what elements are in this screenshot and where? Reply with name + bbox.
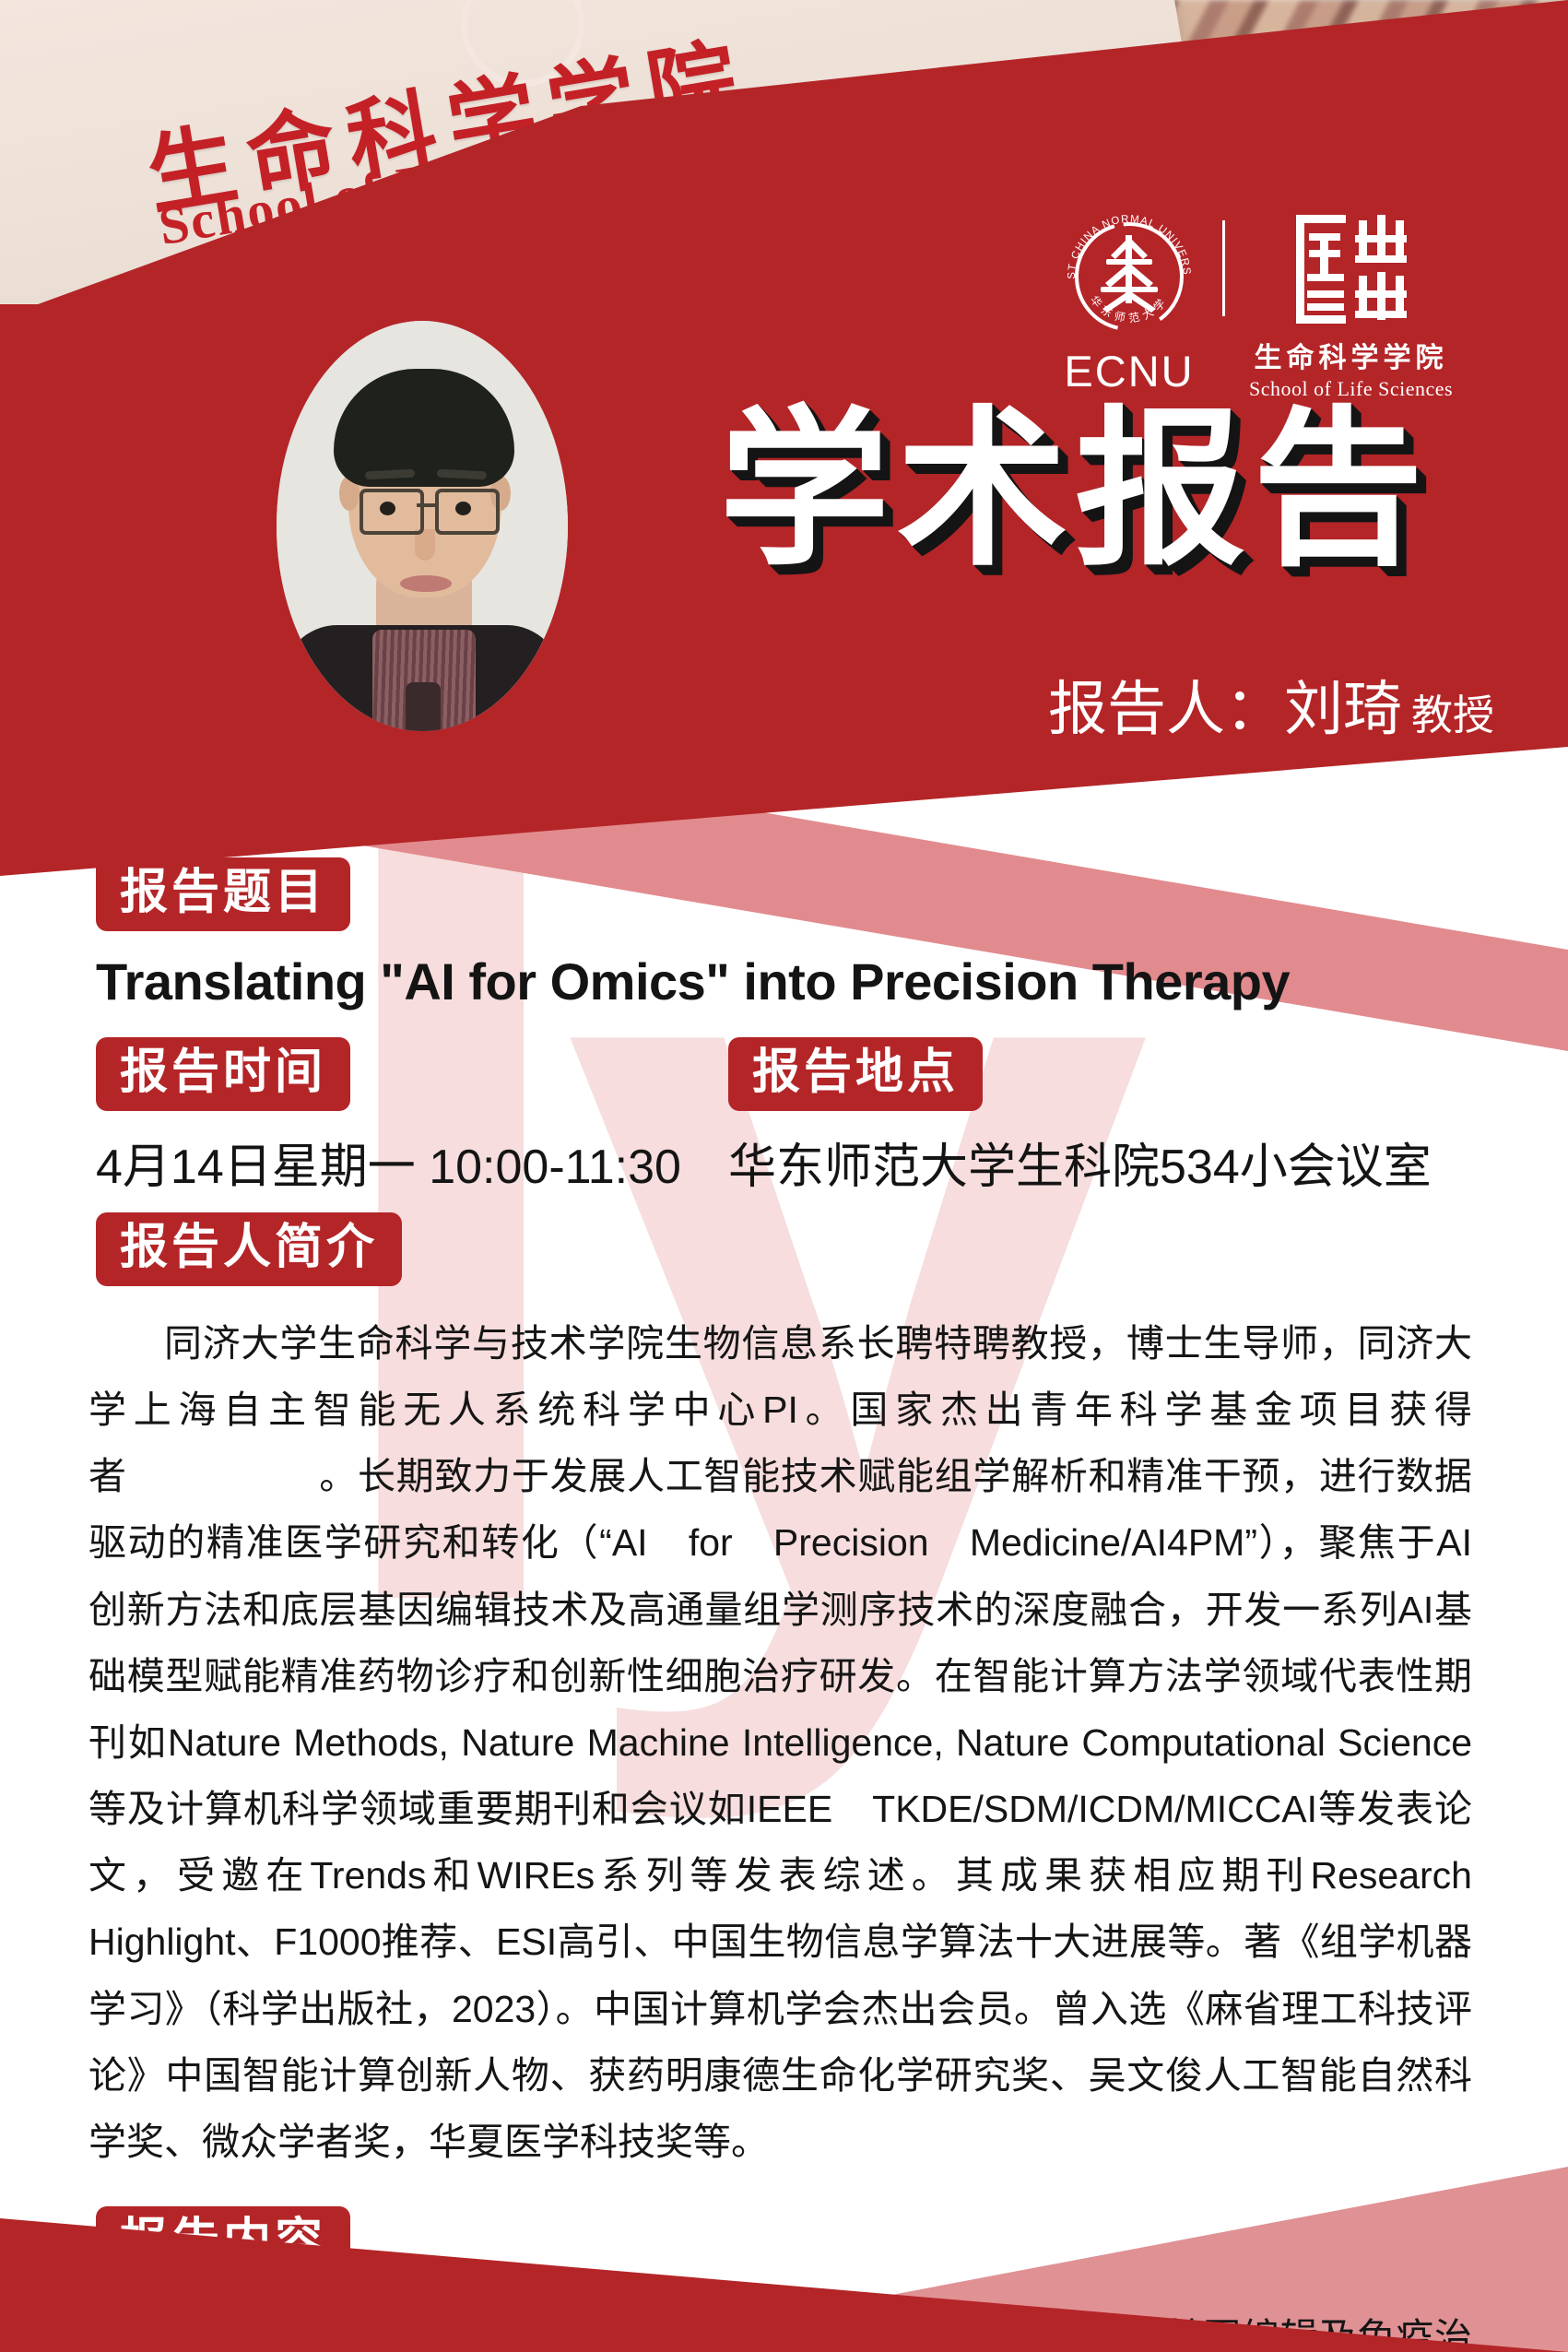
- bio-badge: 报告人简介: [96, 1212, 402, 1286]
- portrait-eye-left: [380, 502, 395, 515]
- school-name-cn: 生命科学学院: [1255, 335, 1448, 375]
- topic-badge: 报告题目: [96, 857, 350, 931]
- speaker-name: 刘琦: [1284, 676, 1402, 742]
- poster-body: 报告题目 Translating "AI for Omics" into Pre…: [0, 857, 1568, 2352]
- speaker-rank: 教授: [1411, 691, 1494, 739]
- talk-title: Translating "AI for Omics" into Precisio…: [96, 951, 1568, 1011]
- school-seal-icon: [1289, 207, 1414, 333]
- portrait-eye-right: [455, 502, 471, 515]
- host-name: 李磊: [1243, 798, 1361, 864]
- time-value: 4月14日星期一 10:00-11:30: [96, 1128, 681, 1197]
- speaker-row: 报告人：刘琦教授: [1048, 662, 1494, 747]
- ecnu-abbr-text: ECNU: [1064, 349, 1194, 393]
- time-badge: 报告时间: [96, 1037, 350, 1111]
- place-badge: 报告地点: [728, 1037, 983, 1111]
- logo-divider: [1222, 220, 1225, 316]
- host-rank: 研究员: [1370, 813, 1494, 860]
- poster-root: 生命科学学院 School of Life S ly EAST CHINA NO…: [0, 0, 1568, 2352]
- bio-paragraph: 同济大学生命科学与技术学院生物信息系长聘特聘教授，博士生导师，同济大学上海自主智…: [88, 1310, 1472, 2175]
- place-value: 华东师范大学生科院534小会议室: [728, 1128, 1432, 1197]
- portrait-tie: [406, 682, 441, 731]
- ecnu-seal-icon: EAST CHINA NORMAL UNIVERSITY 华东师范大学: [1060, 207, 1198, 346]
- place-column: 报告地点 华东师范大学生科院534小会议室: [728, 1037, 1432, 1197]
- school-logo: 生命科学学院 School of Life Sciences: [1249, 207, 1453, 401]
- portrait-glasses-bridge: [417, 503, 435, 507]
- host-label: 主持人：: [1007, 798, 1243, 864]
- ecnu-logo-lockup: EAST CHINA NORMAL UNIVERSITY 华东师范大学: [1060, 207, 1453, 401]
- bio-section: 报告人简介: [96, 1212, 1568, 1286]
- topic-section: 报告题目: [96, 857, 1568, 931]
- speaker-portrait-photo: [277, 321, 568, 731]
- host-row: 主持人：李磊研究员: [1007, 784, 1494, 869]
- speaker-label: 报告人：: [1048, 676, 1284, 742]
- ecnu-logo: EAST CHINA NORMAL UNIVERSITY 华东师范大学: [1060, 207, 1198, 393]
- page-title: 学术报告: [719, 406, 1431, 576]
- portrait-mouth: [400, 575, 452, 592]
- time-place-section: 报告时间 4月14日星期一 10:00-11:30 报告地点 华东师范大学生科院…: [0, 1037, 1568, 1212]
- time-column: 报告时间 4月14日星期一 10:00-11:30: [96, 1037, 681, 1197]
- section-spacer: [0, 2175, 1568, 2206]
